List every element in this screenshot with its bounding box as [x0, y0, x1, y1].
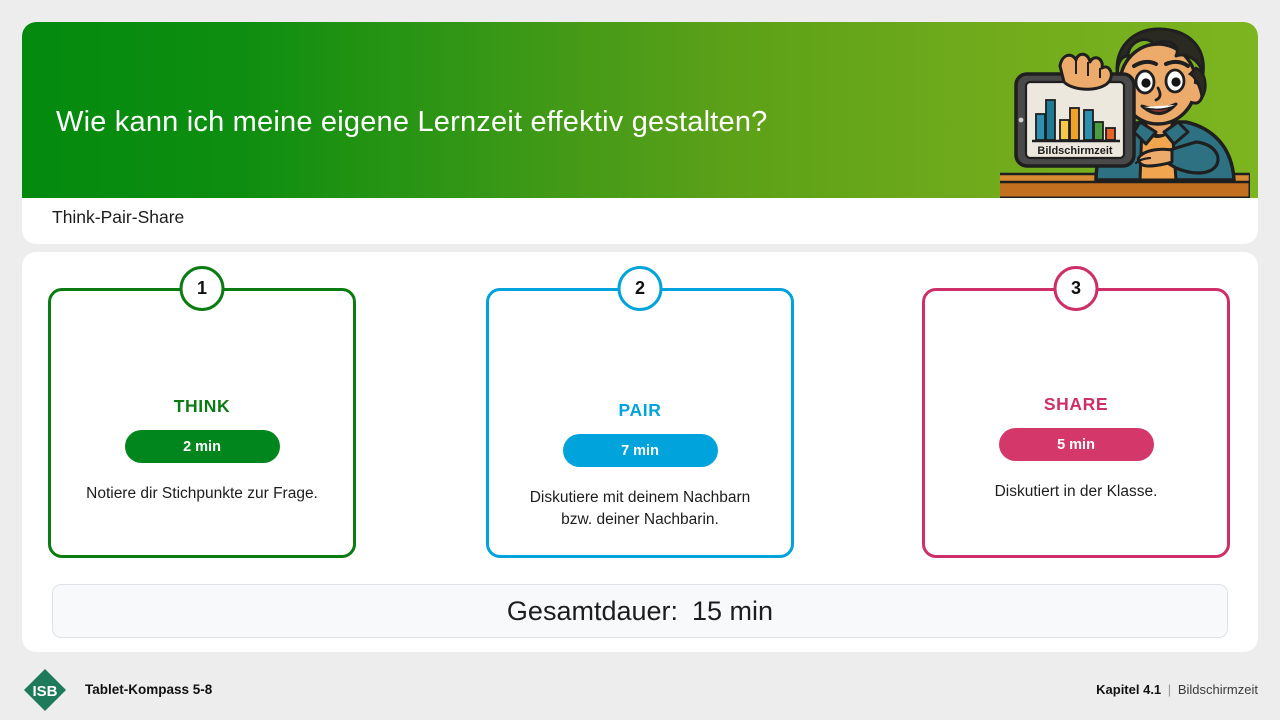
step-card-content: PAIR 7 min Diskutiere mit deinem Nachbar…: [486, 400, 794, 532]
footer-chapter: Kapitel 4.1: [1096, 682, 1161, 697]
step-duration-pill-pair: 7 min: [563, 434, 718, 467]
step-card-think[interactable]: 1 THINK 2 min Notiere dir Stichpunkte zu…: [48, 288, 356, 558]
step-duration-pill-share: 5 min: [999, 428, 1154, 461]
total-duration-bar: Gesamtdauer: 15 min: [52, 584, 1228, 638]
header-panel: Bildschirmzeit Wie kann ich meine eigene…: [22, 22, 1258, 244]
step-card-content: SHARE 5 min Diskutiert in der Klasse.: [922, 394, 1230, 503]
steps-row: 1 THINK 2 min Notiere dir Stichpunkte zu…: [22, 252, 1258, 570]
step-card-content: THINK 2 min Notiere dir Stichpunkte zur …: [48, 396, 356, 505]
step-description-pair: Diskutiere mit deinem Nachbarn bzw. dein…: [514, 487, 766, 532]
student-holding-tablet-illustration: Bildschirmzeit: [1000, 22, 1250, 198]
footer-topic: Bildschirmzeit: [1178, 682, 1258, 697]
step-title-think: THINK: [174, 396, 230, 417]
step-title-pair: PAIR: [619, 400, 662, 421]
step-number-badge-2: 2: [618, 266, 663, 311]
footer-chapter-info: Kapitel 4.1 | Bildschirmzeit: [1096, 682, 1258, 697]
page-title: Wie kann ich meine eigene Lernzeit effek…: [56, 106, 768, 139]
step-number-badge-3: 3: [1054, 266, 1099, 311]
isb-logo: ISB: [22, 667, 68, 713]
total-duration-value: 15 min: [692, 596, 773, 627]
step-card-share[interactable]: 3 SHARE 5 min Diskutiert in der Klasse.: [922, 288, 1230, 558]
isb-logo-text: ISB: [32, 683, 57, 700]
footer-separator: |: [1168, 682, 1171, 697]
header-subtitle: Think-Pair-Share: [52, 207, 184, 228]
step-number-badge-1: 1: [180, 266, 225, 311]
footer-series-label: Tablet-Kompass 5-8: [85, 682, 212, 697]
step-duration-pill-think: 2 min: [125, 430, 280, 463]
tablet-screen-label: Bildschirmzeit: [1037, 145, 1113, 157]
total-duration-label: Gesamtdauer:: [507, 596, 678, 627]
step-description-think: Notiere dir Stichpunkte zur Frage.: [76, 483, 328, 505]
slide-canvas: Bildschirmzeit Wie kann ich meine eigene…: [0, 0, 1280, 720]
step-description-share: Diskutiert in der Klasse.: [950, 481, 1202, 503]
step-card-pair[interactable]: 2 PAIR 7 min Diskutiere mit deinem Nachb…: [486, 288, 794, 558]
step-title-share: SHARE: [1044, 394, 1108, 415]
content-panel: 1 THINK 2 min Notiere dir Stichpunkte zu…: [22, 252, 1258, 652]
